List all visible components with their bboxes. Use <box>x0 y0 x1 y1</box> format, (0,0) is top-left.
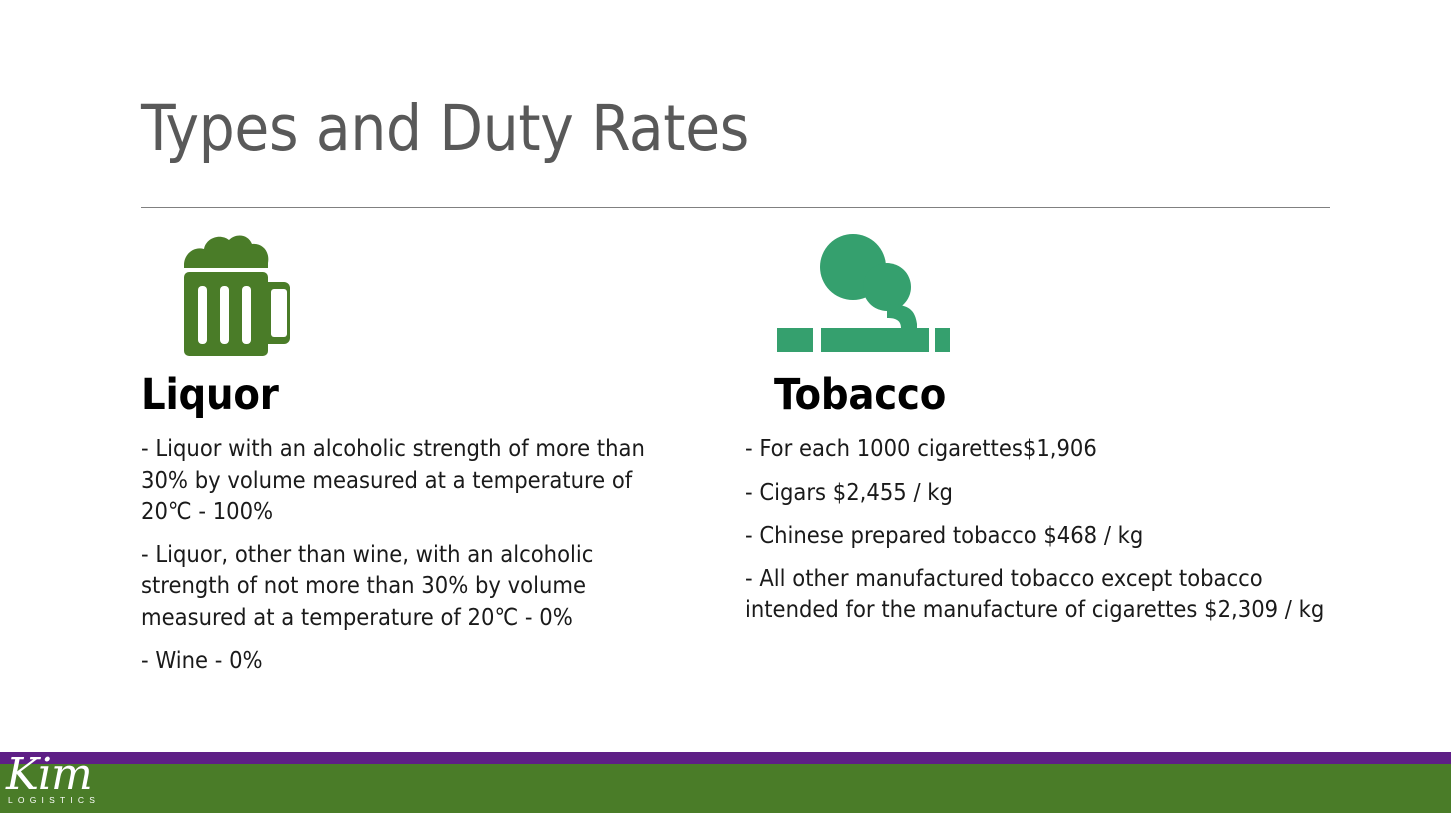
column-heading-tobacco: Tobacco <box>774 372 1345 419</box>
beer-mug-icon <box>178 232 701 372</box>
column-heading-liquor: Liquor <box>141 372 701 419</box>
bullet-item: - For each 1000 cigarettes$1,906 <box>745 433 1335 464</box>
bullet-item: - Wine - 0% <box>141 645 651 676</box>
brand-logo: Kim LOGISTICS <box>2 752 122 813</box>
bullet-item: - All other manufactured tobacco except … <box>745 563 1335 626</box>
bullet-item: - Liquor with an alcoholic strength of m… <box>141 433 651 527</box>
column-liquor: Liquor - Liquor with an alcoholic streng… <box>141 232 701 688</box>
footer-accent-bar <box>0 752 1451 764</box>
slide: Types and Duty Rates <box>0 0 1451 813</box>
bullet-item: - Chinese prepared tobacco $468 / kg <box>745 520 1335 551</box>
footer-bar <box>0 764 1451 813</box>
title-divider <box>141 207 1330 208</box>
column-tobacco: Tobacco - For each 1000 cigarettes$1,906… <box>745 232 1345 638</box>
logo-subtitle: LOGISTICS <box>8 795 100 805</box>
bullet-item: - Liquor, other than wine, with an alcoh… <box>141 539 651 633</box>
page-title: Types and Duty Rates <box>141 96 1341 162</box>
bullet-item: - Cigars $2,455 / kg <box>745 477 1335 508</box>
cigarette-smoke-icon <box>775 232 1345 372</box>
logo-wordmark: Kim <box>6 752 92 798</box>
